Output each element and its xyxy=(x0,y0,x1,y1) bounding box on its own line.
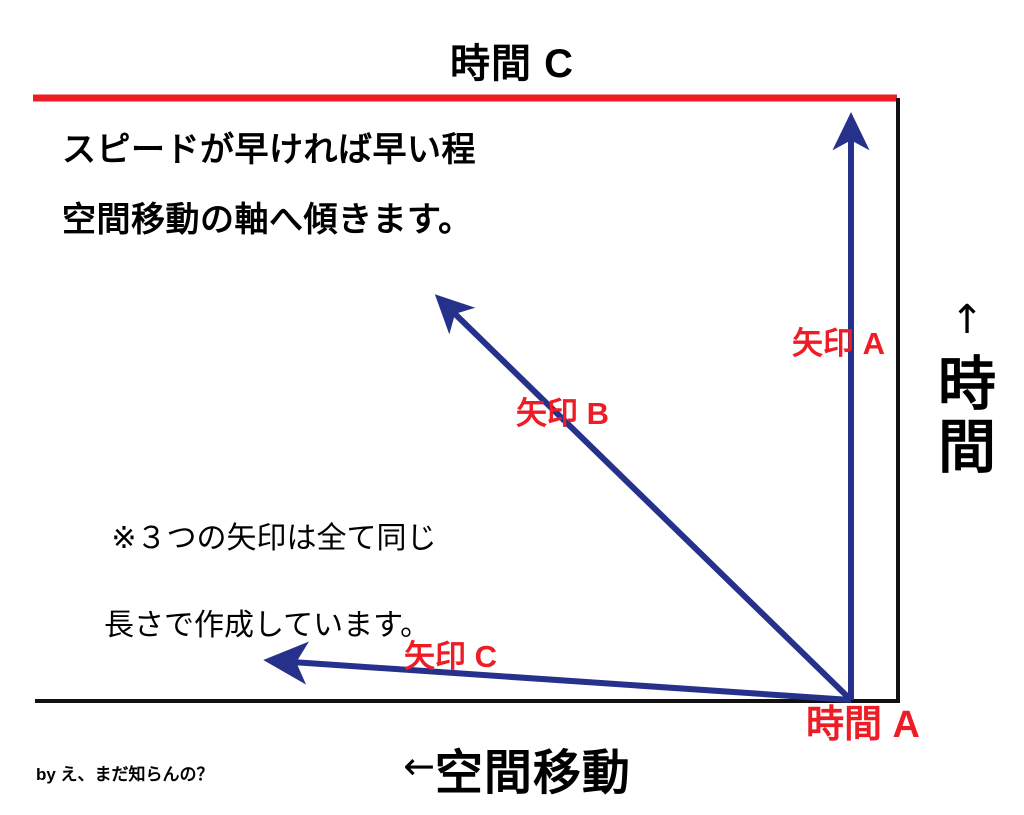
caption-line-1: スピードが早ければ早い程 xyxy=(62,133,476,167)
footnote-line-1: ※３つの矢印は全て同じ xyxy=(111,522,436,555)
left-arrow-icon: ← xyxy=(403,744,435,788)
y-axis-label-char-1: 時 xyxy=(930,354,1004,417)
footnote: ※３つの矢印は全て同じ 長さで作成しています。 xyxy=(78,473,436,734)
arrow-a-label: 矢印 A xyxy=(792,328,885,359)
arrow-b-label: 矢印 B xyxy=(516,398,609,429)
arrow-b-shaft xyxy=(452,311,851,700)
diagram-canvas: 時間 C スピードが早ければ早い程 空間移動の軸へ傾きます。 ※３つの矢印は全て… xyxy=(0,0,1024,815)
x-axis-label: 空間移動 xyxy=(435,747,631,800)
y-axis-label: 時 間 xyxy=(930,354,1004,479)
credit-line: by え、まだ知らんの？ xyxy=(36,766,214,783)
y-axis-label-group: ↑ 時 間 xyxy=(930,300,1004,479)
up-arrow-icon: ↑ xyxy=(930,300,1004,340)
caption-line-2: 空間移動の軸へ傾きます。 xyxy=(62,203,473,237)
arrow-c-label: 矢印 C xyxy=(404,641,497,672)
y-axis-label-char-2: 間 xyxy=(930,417,1004,480)
page-title: 時間 C xyxy=(0,44,1024,84)
footnote-line-2: 長さで作成しています。 xyxy=(78,604,436,648)
